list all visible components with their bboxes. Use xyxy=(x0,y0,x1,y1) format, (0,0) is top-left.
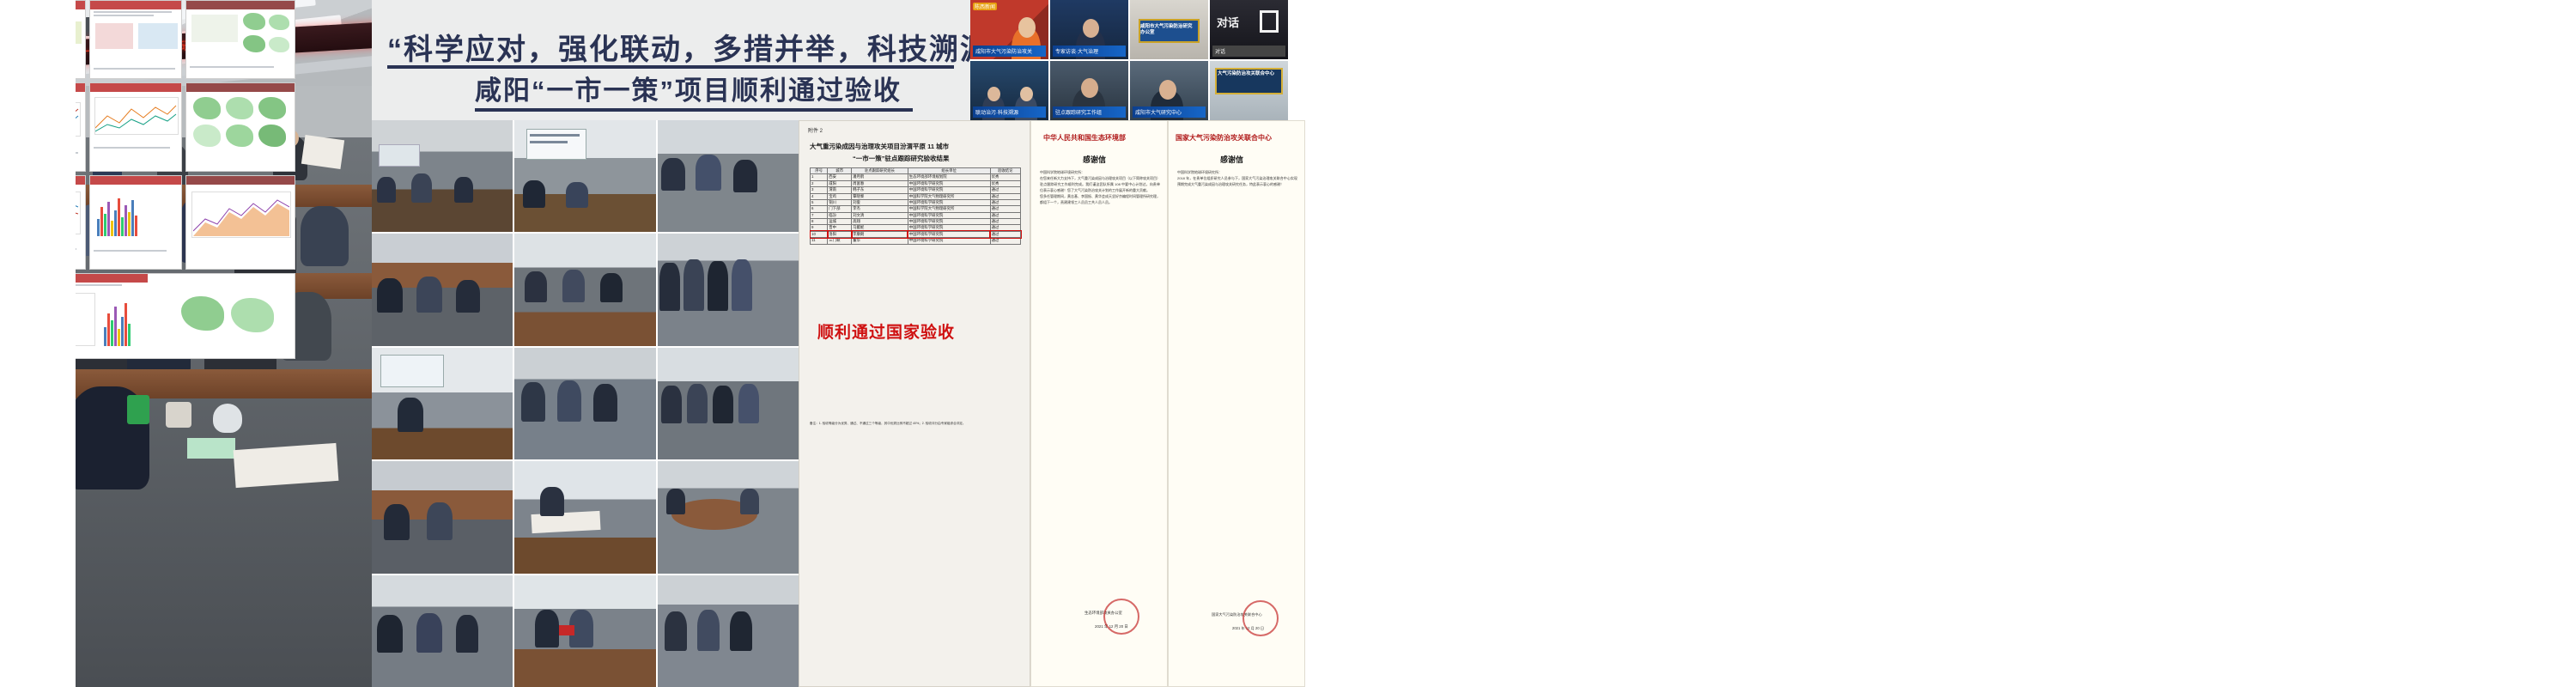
tv-plaque-text: 大气污染防治攻关联合中心 xyxy=(1218,71,1278,77)
tv-lower-third: 咸阳市大气研究中心 xyxy=(1133,106,1206,118)
table-cell: 潘月鹤 xyxy=(852,174,908,180)
tv-tile-studio-guests: 联动治污·科技溯源 xyxy=(970,61,1048,120)
table-cell: 通过 xyxy=(990,193,1020,199)
tv-lower-third: 咸阳市大气污染防治攻关 xyxy=(973,46,1046,57)
letter-org-name: 中华人民共和国生态环境部 xyxy=(1043,133,1126,143)
table-cell: 董华 xyxy=(852,238,908,244)
table-cell: 中国环境科学研究院 xyxy=(908,187,990,193)
table-cell: 三门峡 xyxy=(828,238,852,244)
table-cell: 6 xyxy=(811,206,828,212)
table-cell: 10 xyxy=(811,231,828,237)
tv-lower-third: 专家访谈·大气治理 xyxy=(1053,46,1126,57)
table-cell: 8 xyxy=(811,219,828,225)
letter-heading: 感谢信 xyxy=(1083,154,1106,165)
photo-group-photo-outdoor xyxy=(658,348,799,459)
report-thumb-5 xyxy=(89,82,182,172)
tv-lower-third: 驻点跟踪研究工作组 xyxy=(1053,106,1126,118)
tv-tile-office-plaque: 大气污染防治攻关联合中心 xyxy=(1210,61,1288,120)
tv-tile-interview-1: 专家访谈·大气治理 xyxy=(1050,0,1128,59)
photo-audience-listening xyxy=(658,120,799,232)
table-cell: 通过 xyxy=(990,225,1020,231)
poster-canvas: 一市一策”驻点跟踪研究项目技术验收会 xyxy=(0,0,2576,687)
doc-title-line-2: “一市一策”驻点跟踪研究验收结果 xyxy=(853,154,950,163)
table-cell: 通过 xyxy=(990,199,1020,205)
table-cell: 通过 xyxy=(990,231,1020,237)
table-cell: 覃晓黎 xyxy=(852,193,908,199)
table-cell: 通过 xyxy=(990,219,1020,225)
table-row: 4宝鸡覃晓黎中国科学院大气物理研究所通过 xyxy=(811,193,1021,199)
table-cell: 中国科学院大气物理研究所 xyxy=(908,193,990,199)
table-cell: 通过 xyxy=(990,206,1020,212)
acceptance-results-table: 序号城市驻点跟踪研究组长组长单位验收结论 1西安潘月鹤生态环境部环境规划院优秀2… xyxy=(810,167,1021,245)
tv-plaque-text: 咸阳市大气污染防治研究办公室 xyxy=(1140,24,1195,36)
table-cell: 宝鸡 xyxy=(828,193,852,199)
official-seal xyxy=(1103,599,1139,635)
table-cell: 中国科学院大气物理研究所 xyxy=(908,206,990,212)
table-cell: 洛阳 xyxy=(828,231,852,237)
photo-review-committee xyxy=(514,234,655,345)
photo-award-handover xyxy=(514,575,655,687)
tv-program-title: 对话 xyxy=(1217,14,1239,30)
table-cell: 高翔 xyxy=(852,219,908,225)
title-line-1: “科学应对，强化联动，多措并举，科技溯源” xyxy=(387,26,1007,68)
table-cell: 通过 xyxy=(990,187,1020,193)
table-cell: 1 xyxy=(811,174,828,180)
title-line-2: 咸阳“一市一策”项目顺利通过验收 xyxy=(475,69,902,107)
photo-meeting-projector xyxy=(514,120,655,232)
cup xyxy=(166,402,191,428)
table-cell: 4 xyxy=(811,193,828,199)
tv-coverage-grid: 陈西新闻 咸阳市大气污染防治攻关 专家访谈·大气治理 咸阳市大气污染防治研究办公… xyxy=(970,0,1288,120)
table-col-header: 组长单位 xyxy=(908,168,990,174)
table-cell: 刘文清 xyxy=(852,212,908,218)
report-thumb-8 xyxy=(89,175,182,270)
letter-body: 中国科学院地球环境研究所： 在您来任新大力支持下，大气重污染成因与治理攻关项目（… xyxy=(1040,169,1160,205)
acceptance-results-document: 附件 2 大气重污染成因与治理攻关项目汾渭平原 11 城市 “一市一策”驻点跟踪… xyxy=(799,120,1030,687)
table-cell: 中国环境科学研究院 xyxy=(908,225,990,231)
table-row: 5铜川刘俊中国环境科学研究院通过 xyxy=(811,199,1021,205)
table-cell: 中国环境科学研究院 xyxy=(908,231,990,237)
area-chart-icon xyxy=(193,193,289,236)
photo-desk-discussion xyxy=(372,461,513,573)
tv-tile-expert-2: 咸阳市大气研究中心 xyxy=(1130,61,1208,120)
tv-lower-third: 联动治污·科技溯源 xyxy=(973,106,1046,118)
table-cell: 5 xyxy=(811,199,828,205)
table-cell: 中国环境科学研究院 xyxy=(908,199,990,205)
table-cell: 周富春 xyxy=(852,180,908,186)
table-cell: 7 xyxy=(811,212,828,218)
table-cell: 11 xyxy=(811,238,828,244)
photo-expert-presentation xyxy=(372,348,513,459)
letter-body: 中国科学院地球环境研究所： 2018 年，在贵单位组织研究人员参与下，国家大气污… xyxy=(1177,169,1297,187)
table-cell: 3 xyxy=(811,187,828,193)
table-cell: 运城 xyxy=(828,219,852,225)
table-cell: 西安 xyxy=(828,174,852,180)
cup-green xyxy=(127,395,149,424)
photo-closing-meeting xyxy=(658,575,799,687)
table-cell: 2 xyxy=(811,180,828,186)
tv-tile-field-report: 驻点跟踪研究工作组 xyxy=(1050,61,1128,120)
table-col-header: 验收结论 xyxy=(990,168,1020,174)
table-cell: 门下部 xyxy=(828,206,852,212)
table-cell: 中国环境科学研究院 xyxy=(908,219,990,225)
photo-group-standing xyxy=(658,234,799,345)
title-underline-2 xyxy=(475,108,913,112)
table-header-row: 序号城市驻点跟踪研究组长组长单位验收结论 xyxy=(811,168,1021,174)
tv-tile-panel-talk: 对话 对话 xyxy=(1210,0,1288,59)
table-cell: 韩子东 xyxy=(852,187,908,193)
report-thumb-9 xyxy=(185,175,295,270)
meeting-photo-montage xyxy=(372,120,799,687)
cup-2 xyxy=(213,404,242,433)
table-col-header: 序号 xyxy=(811,168,828,174)
report-thumb-3 xyxy=(185,0,295,79)
multi-line-chart-icon xyxy=(95,99,178,133)
poster-title-panel: “科学应对，强化联动，多措并举，科技溯源” 咸阳“一市一策”项目顺利通过验收 xyxy=(372,0,970,120)
doc-title-line-1: 大气重污染成因与治理攻关项目汾渭平原 11 城市 xyxy=(810,142,949,151)
tv-tile-sign-building: 咸阳市大气污染防治研究办公室 xyxy=(1130,0,1208,59)
table-cell: 9 xyxy=(811,225,828,231)
report-thumb-6 xyxy=(185,82,295,172)
table-row: 7临汾刘文清中国环境科学研究院通过 xyxy=(811,212,1021,218)
table-row: 9晋中马嬜妮中国环境科学研究院通过 xyxy=(811,225,1021,231)
letter-org-name: 国家大气污染防治攻关联合中心 xyxy=(1176,133,1272,143)
table-cell: 中国环境科学研究院 xyxy=(908,180,990,186)
table-cell: 中国环境科学研究院 xyxy=(908,238,990,244)
table-row: 6门下部李杰中国科学院大气物理研究所通过 xyxy=(811,206,1021,212)
table-col-header: 城市 xyxy=(828,168,852,174)
table-row: 8运城高翔中国环境科学研究院通过 xyxy=(811,219,1021,225)
table-cell: 李杰 xyxy=(852,206,908,212)
report-thumb-2 xyxy=(89,0,182,79)
photo-site-visit xyxy=(514,348,655,459)
table-cell: 马嬜妮 xyxy=(852,225,908,231)
tv-lower-third: 对话 xyxy=(1212,46,1285,57)
doc-attachment-label: 附件 2 xyxy=(808,128,823,136)
table-row: 3渭南韩子东中国环境科学研究院通过 xyxy=(811,187,1021,193)
official-seal xyxy=(1242,600,1279,636)
ministry-thanks-letter: 中华人民共和国生态环境部 感谢信 中国科学院地球环境研究所： 在您来任新大力支持… xyxy=(1030,120,1168,687)
table-cell: 生态环境部环境规划院 xyxy=(908,174,990,180)
letter-heading: 感谢信 xyxy=(1220,154,1243,165)
photo-round-table xyxy=(658,461,799,573)
page-margin-right xyxy=(1305,0,2576,687)
table-row: 10洛阳李康朗中国环境科学研究院通过 xyxy=(811,231,1021,237)
photo-document-review xyxy=(514,461,655,573)
table-cell: 优秀 xyxy=(990,174,1020,180)
photo-audience-back xyxy=(372,575,513,687)
table-cell: 李康朗 xyxy=(852,231,908,237)
table-cell: 刘俊 xyxy=(852,199,908,205)
table-row: 2咸阳周富春中国环境科学研究院优秀 xyxy=(811,180,1021,186)
table-col-header: 驻点跟踪研究组长 xyxy=(852,168,908,174)
table-row: 11三门峡董华中国环境科学研究院通过 xyxy=(811,238,1021,244)
page-margin-left xyxy=(0,0,76,687)
photo-panel-discussion xyxy=(372,234,513,345)
table-cell: 中国环境科学研究院 xyxy=(908,212,990,218)
table-cell: 铜川 xyxy=(828,199,852,205)
photo-meeting-room-wide xyxy=(372,120,513,232)
tv-chip: 陈西新闻 xyxy=(973,3,997,10)
table-cell: 渭南 xyxy=(828,187,852,193)
table-cell: 优秀 xyxy=(990,180,1020,186)
table-row: 1西安潘月鹤生态环境部环境规划院优秀 xyxy=(811,174,1021,180)
table-cell: 晋中 xyxy=(828,225,852,231)
table-cell: 通过 xyxy=(990,238,1020,244)
joint-center-thanks-letter: 国家大气污染防治攻关联合中心 感谢信 中国科学院地球环境研究所： 2018 年，… xyxy=(1168,120,1305,687)
tv-tile-news-anchor: 陈西新闻 咸阳市大气污染防治攻关 xyxy=(970,0,1048,59)
table-cell: 咸阳 xyxy=(828,180,852,186)
table-footnote: 备注：1. 验收等级分为优秀、通过、不通过三个等级，其中优秀比例不超过 40%；… xyxy=(810,422,1021,426)
table-cell: 通过 xyxy=(990,212,1020,218)
red-stamp-caption: 顺利通过国家验收 xyxy=(817,319,955,343)
table-cell: 临汾 xyxy=(828,212,852,218)
